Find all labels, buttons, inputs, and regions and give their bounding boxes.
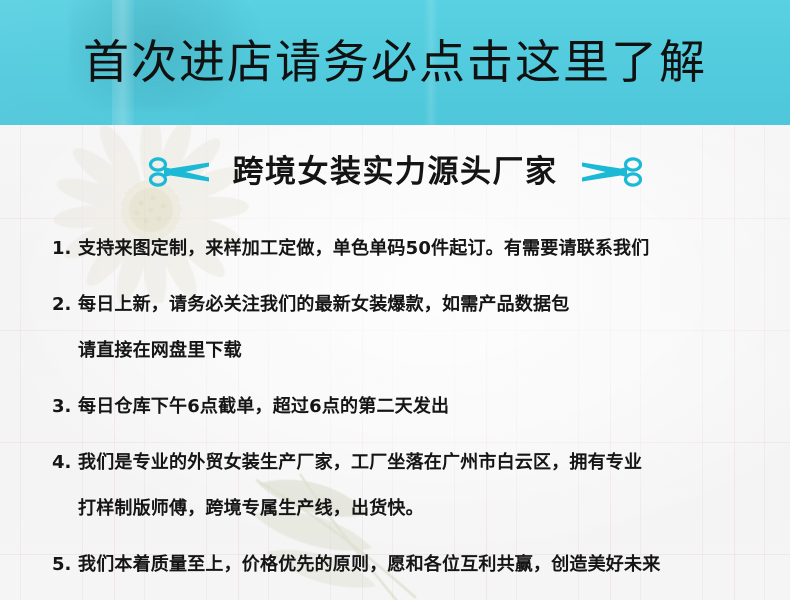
list-item-body: 我们是专业的外贸女装生产厂家，工厂坐落在广州市白云区，拥有专业 打样制版师傅，跨… [78, 440, 764, 532]
list-item-line: 打样制版师傅，跨境专属生产线，出货快。 [78, 486, 764, 532]
list-item-number: 2. [52, 282, 78, 328]
list-item-number: 3. [52, 384, 78, 430]
list-item: 3. 每日仓库下午6点截单，超过6点的第二天发出 [52, 384, 764, 430]
info-list: 1. 支持来图定制，来样加工定做，单色单码50件起订。有需要请联系我们 2. 每… [52, 226, 764, 598]
list-item-body: 每日上新，请务必关注我们的最新女装爆款，如需产品数据包 请直接在网盘里下载 [78, 282, 764, 374]
list-item: 1. 支持来图定制，来样加工定做，单色单码50件起订。有需要请联系我们 [52, 226, 764, 272]
list-item-line: 每日仓库下午6点截单，超过6点的第二天发出 [78, 384, 764, 430]
banner-title: 首次进店请务必点击这里了解 [0, 34, 790, 90]
list-item-line: 我们本着质量至上，价格优先的原则，愿和各位互利共赢，创造美好未来 [78, 542, 764, 588]
list-item-body: 每日仓库下午6点截单，超过6点的第二天发出 [78, 384, 764, 430]
promo-banner-page: 首次进店请务必点击这里了解 跨境女装实力源头厂家 [0, 0, 790, 600]
scissors-icon-left [149, 156, 211, 188]
list-item-body: 我们本着质量至上，价格优先的原则，愿和各位互利共赢，创造美好未来 [78, 542, 764, 588]
subtitle-text: 跨境女装实力源头厂家 [233, 152, 558, 192]
list-item-line: 每日上新，请务必关注我们的最新女装爆款，如需产品数据包 [78, 282, 764, 328]
list-item: 4. 我们是专业的外贸女装生产厂家，工厂坐落在广州市白云区，拥有专业 打样制版师… [52, 440, 764, 532]
list-item-line: 我们是专业的外贸女装生产厂家，工厂坐落在广州市白云区，拥有专业 [78, 440, 764, 486]
list-item: 2. 每日上新，请务必关注我们的最新女装爆款，如需产品数据包 请直接在网盘里下载 [52, 282, 764, 374]
list-item-line: 支持来图定制，来样加工定做，单色单码50件起订。有需要请联系我们 [78, 226, 764, 272]
subtitle-row: 跨境女装实力源头厂家 [0, 152, 790, 192]
scissors-icon-right [580, 156, 642, 188]
list-item-number: 1. [52, 226, 78, 272]
list-item: 5. 我们本着质量至上，价格优先的原则，愿和各位互利共赢，创造美好未来 [52, 542, 764, 588]
list-item-number: 5. [52, 542, 78, 588]
list-item-line: 请直接在网盘里下载 [78, 328, 764, 374]
list-item-body: 支持来图定制，来样加工定做，单色单码50件起订。有需要请联系我们 [78, 226, 764, 272]
list-item-number: 4. [52, 440, 78, 486]
top-banner[interactable]: 首次进店请务必点击这里了解 [0, 0, 790, 125]
